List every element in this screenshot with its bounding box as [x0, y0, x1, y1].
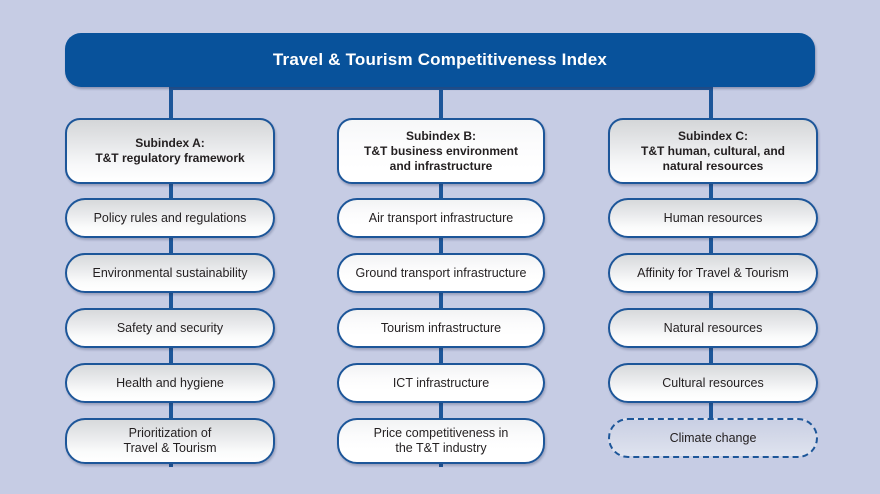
pillar-a-3-label: Safety and security — [107, 321, 233, 336]
pillar-c-3[interactable]: Natural resources — [608, 308, 818, 348]
pillar-a-4[interactable]: Health and hygiene — [65, 363, 275, 403]
connector-bus-to-subindex-b — [439, 86, 443, 120]
diagram-canvas: Travel & Tourism Competitiveness Index S… — [0, 0, 880, 494]
pillar-c-3-label: Natural resources — [654, 321, 773, 336]
column-subindex-b: Subindex B:T&T business environmentand i… — [337, 118, 545, 479]
subindex-c-label: Subindex C:T&T human, cultural, andnatur… — [633, 129, 793, 174]
pillar-a-2[interactable]: Environmental sustainability — [65, 253, 275, 293]
pillar-b-2[interactable]: Ground transport infrastructure — [337, 253, 545, 293]
pillar-a-5[interactable]: Prioritization ofTravel & Tourism — [65, 418, 275, 464]
pillar-c-5-label: Climate change — [660, 431, 767, 446]
column-subindex-c: Subindex C:T&T human, cultural, andnatur… — [608, 118, 818, 473]
index-title-bar: Travel & Tourism Competitiveness Index — [65, 33, 815, 87]
pillar-c-2[interactable]: Affinity for Travel & Tourism — [608, 253, 818, 293]
pillar-b-5-label: Price competitiveness inthe T&T industry — [364, 426, 519, 456]
pillar-b-4-label: ICT infrastructure — [383, 376, 499, 391]
subindex-a-label: Subindex A:T&T regulatory framework — [87, 136, 252, 166]
pillar-b-2-label: Ground transport infrastructure — [346, 266, 537, 281]
pillar-b-5[interactable]: Price competitiveness inthe T&T industry — [337, 418, 545, 464]
pillar-a-1-label: Policy rules and regulations — [84, 211, 257, 226]
pillar-c-1[interactable]: Human resources — [608, 198, 818, 238]
pillar-c-4-label: Cultural resources — [652, 376, 773, 391]
pillar-b-1[interactable]: Air transport infrastructure — [337, 198, 545, 238]
pillar-c-1-label: Human resources — [654, 211, 773, 226]
pillar-b-3-label: Tourism infrastructure — [371, 321, 511, 336]
subindex-header-c[interactable]: Subindex C:T&T human, cultural, andnatur… — [608, 118, 818, 184]
pillar-c-2-label: Affinity for Travel & Tourism — [627, 266, 799, 281]
subindex-header-b[interactable]: Subindex B:T&T business environmentand i… — [337, 118, 545, 184]
column-subindex-a: Subindex A:T&T regulatory framework Poli… — [65, 118, 275, 479]
pillar-b-3[interactable]: Tourism infrastructure — [337, 308, 545, 348]
pillar-a-2-label: Environmental sustainability — [83, 266, 258, 281]
pillar-a-5-label: Prioritization ofTravel & Tourism — [113, 426, 226, 456]
pillar-a-3[interactable]: Safety and security — [65, 308, 275, 348]
subindex-b-label: Subindex B:T&T business environmentand i… — [356, 129, 526, 174]
page-title: Travel & Tourism Competitiveness Index — [273, 50, 607, 70]
connector-bus-to-subindex-c — [709, 86, 713, 120]
pillar-b-4[interactable]: ICT infrastructure — [337, 363, 545, 403]
connector-bus-to-subindex-a — [169, 86, 173, 120]
pillar-c-4[interactable]: Cultural resources — [608, 363, 818, 403]
pillar-c-5-climate-change[interactable]: Climate change — [608, 418, 818, 458]
pillar-b-1-label: Air transport infrastructure — [359, 211, 524, 226]
pillar-a-4-label: Health and hygiene — [106, 376, 234, 391]
pillar-a-1[interactable]: Policy rules and regulations — [65, 198, 275, 238]
subindex-header-a[interactable]: Subindex A:T&T regulatory framework — [65, 118, 275, 184]
